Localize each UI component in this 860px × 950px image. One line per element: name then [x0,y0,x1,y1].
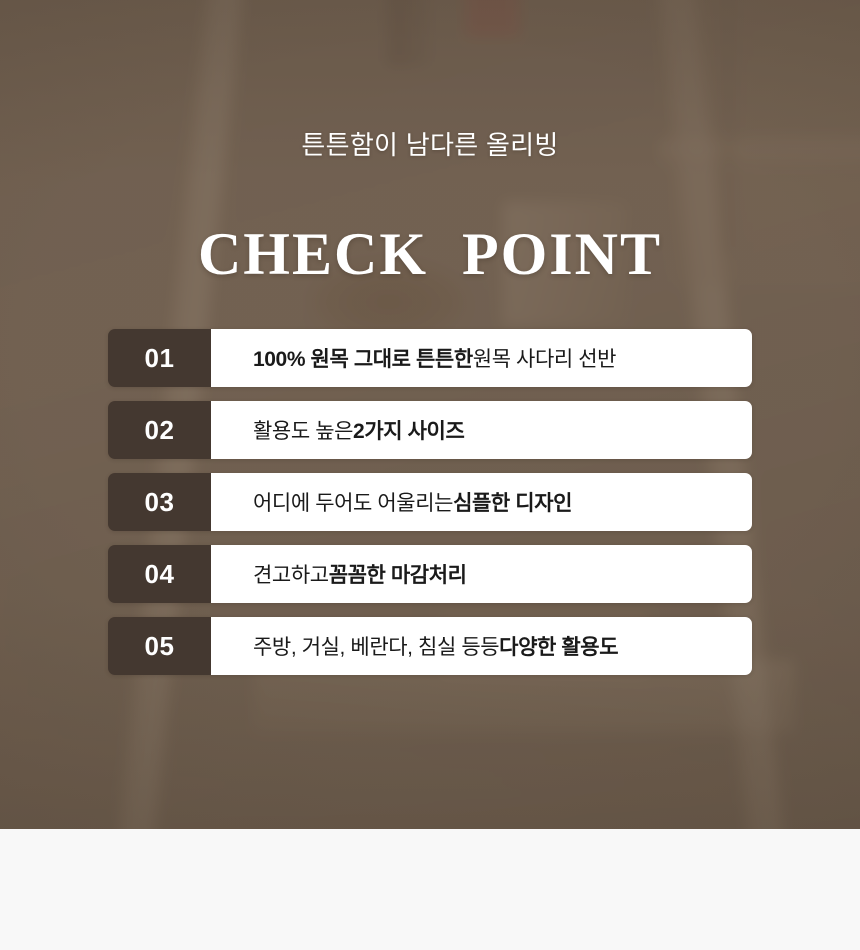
check-point-row: 03어디에 두어도 어울리는 심플한 디자인 [108,473,752,531]
check-point-text-bold: 꼼꼼한 마감처리 [329,559,467,589]
check-point-row: 05주방, 거실, 베란다, 침실 등등 다양한 활용도 [108,617,752,675]
check-point-text: 어디에 두어도 어울리는 심플한 디자인 [211,473,752,531]
check-point-text-normal: 견고하고 [253,559,329,589]
check-point-number: 01 [108,329,211,387]
product-detail-page: 튼튼함이 남다른 올리빙 CHECK POINT 01100% 원목 그대로 튼… [0,0,860,950]
check-point-text-normal: 어디에 두어도 어울리는 [253,487,453,517]
check-point-row: 01100% 원목 그대로 튼튼한 원목 사다리 선반 [108,329,752,387]
check-point-number: 05 [108,617,211,675]
bottom-blank-panel [0,829,860,950]
check-point-text: 견고하고 꼼꼼한 마감처리 [211,545,752,603]
page-title: CHECK POINT [0,223,860,286]
check-point-text-bold: 심플한 디자인 [453,487,572,517]
check-point-list: 01100% 원목 그대로 튼튼한 원목 사다리 선반02활용도 높은 2가지 … [108,329,752,675]
check-point-row: 02활용도 높은 2가지 사이즈 [108,401,752,459]
check-point-text-bold: 2가지 사이즈 [353,415,464,445]
check-point-number: 03 [108,473,211,531]
check-point-text: 활용도 높은 2가지 사이즈 [211,401,752,459]
check-point-row: 04견고하고 꼼꼼한 마감처리 [108,545,752,603]
check-point-text-normal: 원목 사다리 선반 [473,343,616,373]
check-point-number: 02 [108,401,211,459]
check-point-text-bold: 다양한 활용도 [499,631,618,661]
check-point-text: 100% 원목 그대로 튼튼한 원목 사다리 선반 [211,329,752,387]
check-point-number: 04 [108,545,211,603]
check-point-text-normal: 주방, 거실, 베란다, 침실 등등 [253,631,499,661]
hero-subtitle: 튼튼함이 남다른 올리빙 [0,128,860,163]
hero-section: 튼튼함이 남다른 올리빙 CHECK POINT 01100% 원목 그대로 튼… [0,0,860,829]
check-point-text-normal: 활용도 높은 [253,415,353,445]
check-point-text-bold: 100% 원목 그대로 튼튼한 [253,343,473,373]
hero-content: 튼튼함이 남다른 올리빙 CHECK POINT 01100% 원목 그대로 튼… [0,0,860,829]
check-point-text: 주방, 거실, 베란다, 침실 등등 다양한 활용도 [211,617,752,675]
